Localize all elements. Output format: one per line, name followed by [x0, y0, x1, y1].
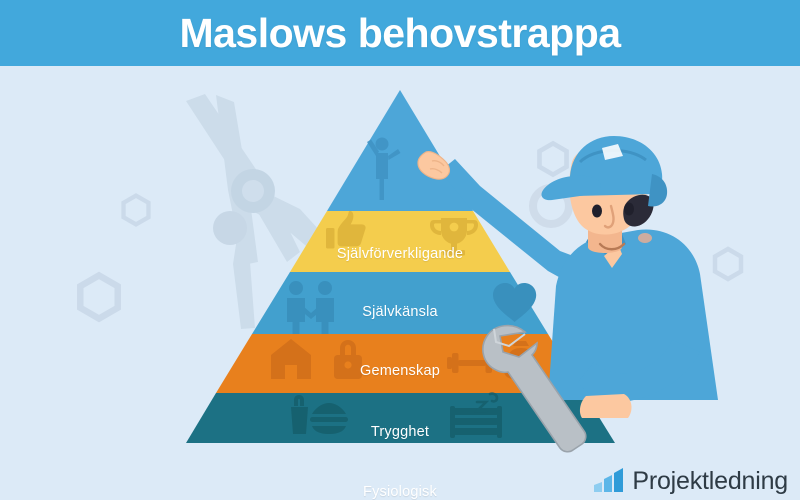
worker-pointing-hand	[418, 152, 449, 180]
worker-with-wrench-illustration	[0, 66, 800, 500]
brand-logo[interactable]: Projektledning	[593, 468, 788, 494]
worker-eye	[624, 203, 634, 216]
worker-cheek	[638, 233, 652, 243]
brand-logo-text: Projektledning	[632, 469, 788, 494]
page-title: Maslows behovstrappa	[179, 13, 620, 54]
worker-eye	[592, 205, 602, 218]
page-header: Maslows behovstrappa	[0, 0, 800, 66]
bar-chart-icon	[593, 468, 625, 494]
worker-hand	[580, 394, 632, 418]
infographic-canvas: $	[0, 66, 800, 500]
